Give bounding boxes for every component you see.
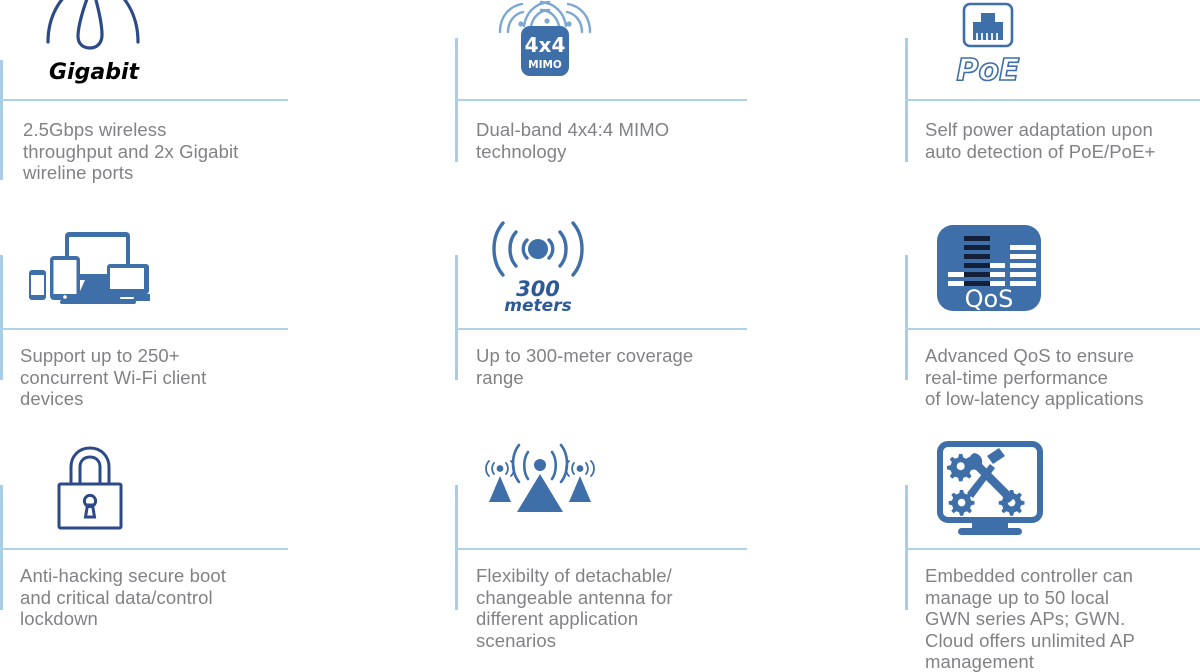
feature-cell-secure-boot: Anti-hacking secure boot and critical da… <box>0 430 330 672</box>
qos-badge-label: QoS <box>965 285 1014 313</box>
feature-cell-embedded-controller: Embedded controller can manage up to 50 … <box>900 430 1200 672</box>
monitor-tools-icon <box>932 438 1047 538</box>
feature-caption: Embedded controller can manage up to 50 … <box>925 565 1200 672</box>
feature-caption: Advanced QoS to ensure real-time perform… <box>925 345 1200 410</box>
feature-caption: 2.5Gbps wireless throughput and 2x Gigab… <box>23 119 313 184</box>
cell-divider <box>0 548 288 550</box>
cell-accent-rail <box>0 60 3 180</box>
poe-logo-label: PoE <box>956 53 1020 88</box>
feature-caption: Dual-band 4x4:4 MIMO technology <box>476 119 776 162</box>
mimo-badge-icon: 4x4 MIMO <box>490 0 600 88</box>
qos-equalizer-icon: QoS <box>935 225 1045 315</box>
mimo-badge-sublabel: MIMO <box>528 59 562 71</box>
gigabit-logo-label: Gigabit <box>49 60 140 85</box>
feature-grid: Gigabit 2.5Gbps wireless throughput and … <box>0 0 1200 672</box>
multi-device-icon <box>20 230 150 310</box>
coverage-range-icon: 300 meters <box>483 215 593 315</box>
feature-caption: Up to 300-meter coverage range <box>476 345 776 388</box>
antenna-towers-icon <box>475 438 605 538</box>
cell-divider <box>455 548 747 550</box>
padlock-icon <box>45 440 135 540</box>
cell-divider <box>905 328 1200 330</box>
cell-divider <box>905 548 1200 550</box>
feature-cell-detachable-antenna: Flexibilty of detachable/ changeable ant… <box>450 430 780 672</box>
cell-divider <box>0 99 288 101</box>
feature-cell-qos: QoS Advanced QoS to ensure real-time per… <box>900 210 1200 430</box>
feature-cell-gigabit-throughput: Gigabit 2.5Gbps wireless throughput and … <box>0 0 330 210</box>
feature-cell-coverage-range: 300 meters Up to 300-meter coverage rang… <box>450 210 780 430</box>
feature-caption: Support up to 250+ concurrent Wi-Fi clie… <box>20 345 310 410</box>
feature-caption: Flexibilty of detachable/ changeable ant… <box>476 565 776 651</box>
poe-logo-icon: PoE <box>935 0 1045 90</box>
cell-divider <box>455 99 747 101</box>
feature-cell-poe: PoE Self power adaptation upon auto dete… <box>900 0 1200 210</box>
feature-caption: Anti-hacking secure boot and critical da… <box>20 565 310 630</box>
mimo-badge-label: 4x4 <box>525 33 566 57</box>
cell-accent-rail <box>455 255 458 380</box>
cell-divider <box>905 99 1200 101</box>
feature-caption: Self power adaptation upon auto detectio… <box>925 119 1200 162</box>
feature-cell-client-devices: Support up to 250+ concurrent Wi-Fi clie… <box>0 210 330 430</box>
cell-divider <box>0 328 288 330</box>
cell-accent-rail <box>0 255 3 380</box>
coverage-range-sublabel: meters <box>504 296 571 315</box>
cell-divider <box>455 328 747 330</box>
cell-accent-rail <box>905 255 908 380</box>
feature-cell-mimo: 4x4 MIMO Dual-band 4x4:4 MIMO technology <box>450 0 780 210</box>
gigabit-logo-icon: Gigabit <box>34 0 154 86</box>
